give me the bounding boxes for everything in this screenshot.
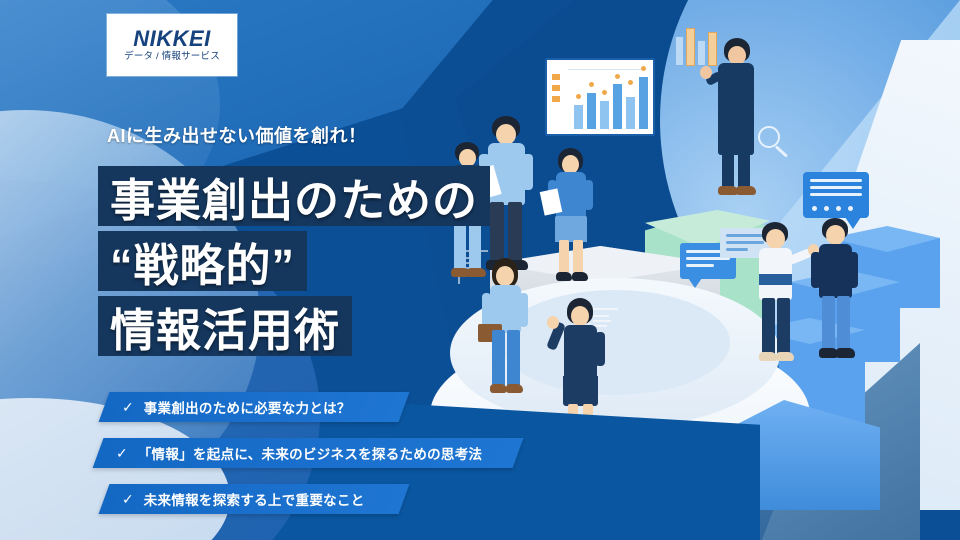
bullet-item-3: ✓ 未来情報を探索する上で重要なこと xyxy=(0,484,560,514)
stage-disc-inner xyxy=(500,290,730,395)
bullet-list: ✓ 事業創出のために必要な力とは？ ✓ 「情報」を起点に、未来のビジネスを探るた… xyxy=(0,392,560,530)
bullet-item-1: ✓ 事業創出のために必要な力とは？ xyxy=(0,392,560,422)
check-icon: ✓ xyxy=(122,400,134,414)
bullet-label-2: 「情報」を起点に、未来のビジネスを探るための思考法 xyxy=(138,443,483,463)
person-woman-blazer xyxy=(548,148,598,298)
logo-wordmark: NIKKEI xyxy=(133,28,211,50)
whiteboard-chart xyxy=(545,58,655,136)
nikkei-logo: NIKKEI データ / 情報サービス xyxy=(107,14,237,76)
bullet-label-3: 未来情報を探索する上で重要なこと xyxy=(144,489,365,509)
headline-kicker: AIに生み出せない価値を創れ！ xyxy=(107,122,367,148)
person-navy-sweater-man xyxy=(810,218,866,380)
person-woman-briefcase xyxy=(482,258,534,408)
person-white-shirt-man xyxy=(750,222,806,382)
chat-bubble-icon xyxy=(803,172,869,218)
headline-line-1: 事業創出のための xyxy=(98,166,490,226)
headline-line-3: 情報活用術 xyxy=(98,296,352,356)
person-presenter xyxy=(708,38,768,198)
slide-canvas: NIKKEI データ / 情報サービス AIに生み出せない価値を創れ！ 事業創出… xyxy=(0,0,960,540)
bullet-label-1: 事業創出のために必要な力とは？ xyxy=(144,397,351,417)
logo-subtitle: データ / 情報サービス xyxy=(124,52,220,62)
bullet-item-2: ✓ 「情報」を起点に、未来のビジネスを探るための思考法 xyxy=(0,438,560,468)
check-icon: ✓ xyxy=(122,492,134,506)
headline-line-2: “戦略的” xyxy=(98,231,307,291)
check-icon: ✓ xyxy=(116,446,128,460)
